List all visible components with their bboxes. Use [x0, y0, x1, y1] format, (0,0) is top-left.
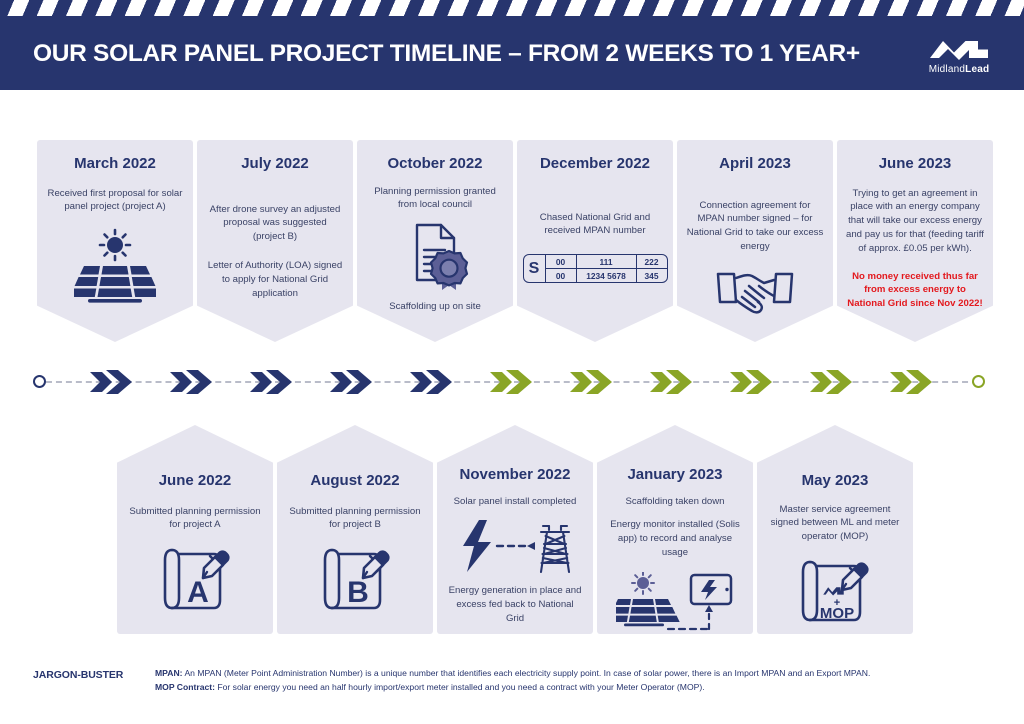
blueprint-letter: A: [187, 576, 209, 609]
page-title: OUR SOLAR PANEL PROJECT TIMELINE – FROM …: [33, 40, 860, 68]
card-title: October 2022: [387, 156, 482, 173]
card-text: Planning permission granted from local c…: [357, 185, 513, 213]
jargon-term: MOP Contract:: [155, 682, 215, 692]
card-title: April 2023: [719, 156, 791, 173]
logo-word-light: Midland: [929, 64, 965, 75]
timeline-arrow-green-1: [490, 364, 534, 400]
timeline-arrow-navy-4: [330, 364, 374, 400]
card-title: January 2023: [627, 467, 722, 484]
timeline-card-june-2022[interactable]: June 2022 Submitted planning permission …: [117, 425, 273, 634]
mpan-cell: 345: [637, 269, 667, 282]
timeline-card-august-2022[interactable]: August 2022 Submitted planning permissio…: [277, 425, 433, 634]
jargon-buster-footer: JARGON-BUSTER MPAN: An MPAN (Meter Point…: [0, 660, 1024, 724]
logo-wordmark: MidlandLead: [929, 64, 990, 75]
timeline-card-october-2022[interactable]: October 2022 Planning permission granted…: [357, 140, 513, 342]
jargon-entry-mpan: MPAN: An MPAN (Meter Point Administratio…: [155, 667, 1006, 681]
card-title: December 2022: [540, 156, 650, 173]
certificate-with-seal-icon: [357, 220, 513, 292]
blueprint-letter: B: [347, 576, 369, 609]
jargon-definition: An MPAN (Meter Point Administration Numb…: [183, 668, 871, 678]
card-text: Submitted planning permission for projec…: [117, 505, 273, 533]
card-title: July 2022: [241, 156, 309, 173]
card-text-after: Energy generation in place and excess fe…: [437, 584, 593, 626]
jargon-term: MPAN:: [155, 668, 183, 678]
lightning-bolt-to-pylon-icon: [437, 518, 593, 574]
card-title: June 2023: [879, 156, 952, 173]
card-text: Master service agreement signed between …: [757, 503, 913, 545]
timeline-arrow-navy-1: [90, 364, 134, 400]
card-title: August 2022: [310, 473, 399, 490]
mpan-table: S 00 111 222 00 1234 5678 345: [523, 254, 668, 283]
timeline-arrow-green-5: [810, 364, 854, 400]
card-title: November 2022: [460, 467, 571, 484]
timeline-arrow-green-3: [650, 364, 694, 400]
timeline-card-july-2022[interactable]: July 2022 After drone survey an adjusted…: [197, 140, 353, 342]
mpan-cell: 111: [577, 255, 637, 268]
card-text: Scaffolding taken down: [616, 495, 733, 509]
timeline-card-may-2023[interactable]: May 2023 Master service agreement signed…: [757, 425, 913, 634]
mpan-number-table-icon: S 00 111 222 00 1234 5678 345: [517, 254, 673, 283]
card-text-secondary: Energy monitor installed (Solis app) to …: [597, 518, 753, 560]
blueprint-scroll-pencil-a-icon: A: [117, 542, 273, 612]
timeline-arrow-green-2: [570, 364, 614, 400]
card-text: After drone survey an adjusted proposal …: [197, 203, 353, 245]
timeline-arrow-navy-5: [410, 364, 454, 400]
diagonal-stripe-banner: [0, 0, 1024, 17]
timeline-axis: [0, 377, 1024, 387]
card-text: Chased National Grid and received MPAN n…: [517, 211, 673, 239]
jargon-buster-label: JARGON-BUSTER: [33, 669, 123, 681]
timeline-card-june-2023[interactable]: June 2023 Trying to get an agreement in …: [837, 140, 993, 342]
timeline-arrow-green-6: [890, 364, 934, 400]
solar-panel-to-tablet-monitor-icon: [597, 572, 753, 634]
card-text-secondary: Letter of Authority (LOA) signed to appl…: [197, 259, 353, 301]
mpan-cell: 222: [637, 255, 667, 268]
handshake-icon: [677, 266, 833, 320]
timeline-end-marker: [972, 375, 985, 388]
timeline-arrow-navy-3: [250, 364, 294, 400]
mpan-cell: 00: [546, 269, 577, 282]
mpan-cell: 1234 5678: [577, 269, 637, 282]
card-title: March 2022: [74, 156, 156, 173]
card-title: May 2023: [802, 473, 869, 490]
solar-panel-with-sun-icon: [37, 228, 193, 306]
mpan-cell: 00: [546, 255, 577, 268]
timeline-card-april-2023[interactable]: April 2023 Connection agreement for MPAN…: [677, 140, 833, 342]
card-text: Solar panel install completed: [445, 495, 586, 509]
card-text-after: Scaffolding up on site: [380, 300, 490, 314]
midland-lead-logo: MidlandLead: [916, 34, 1002, 78]
card-text: Connection agreement for MPAN number sig…: [677, 199, 833, 255]
card-text: Submitted planning permission for projec…: [277, 505, 433, 533]
timeline-arrow-navy-2: [170, 364, 214, 400]
blueprint-scroll-ml-mop-icon: + MOP: [757, 554, 913, 624]
logo-word-bold: Lead: [965, 64, 989, 75]
timeline-arrow-green-4: [730, 364, 774, 400]
timeline-start-marker: [33, 375, 46, 388]
timeline-card-march-2022[interactable]: March 2022 Received first proposal for s…: [37, 140, 193, 342]
mpan-prefix: S: [524, 255, 546, 282]
blueprint-scroll-pencil-b-icon: B: [277, 542, 433, 612]
blueprint-letter: MOP: [820, 605, 854, 622]
jargon-entry-mop: MOP Contract: For solar energy you need …: [155, 681, 1006, 695]
timeline-card-november-2022[interactable]: November 2022 Solar panel install comple…: [437, 425, 593, 634]
midland-lead-m-logo-icon: [928, 38, 990, 62]
card-text: Received first proposal for solar panel …: [37, 187, 193, 215]
card-warning-text: No money received thus far from excess e…: [837, 270, 993, 310]
timeline-card-december-2022[interactable]: December 2022 Chased National Grid and r…: [517, 140, 673, 342]
card-title: June 2022: [159, 473, 232, 490]
card-text: Trying to get an agreement in place with…: [837, 187, 993, 257]
timeline-card-january-2023[interactable]: January 2023 Scaffolding taken down Ener…: [597, 425, 753, 634]
jargon-definition: For solar energy you need an half hourly…: [215, 682, 705, 692]
infographic-page: OUR SOLAR PANEL PROJECT TIMELINE – FROM …: [0, 0, 1024, 724]
